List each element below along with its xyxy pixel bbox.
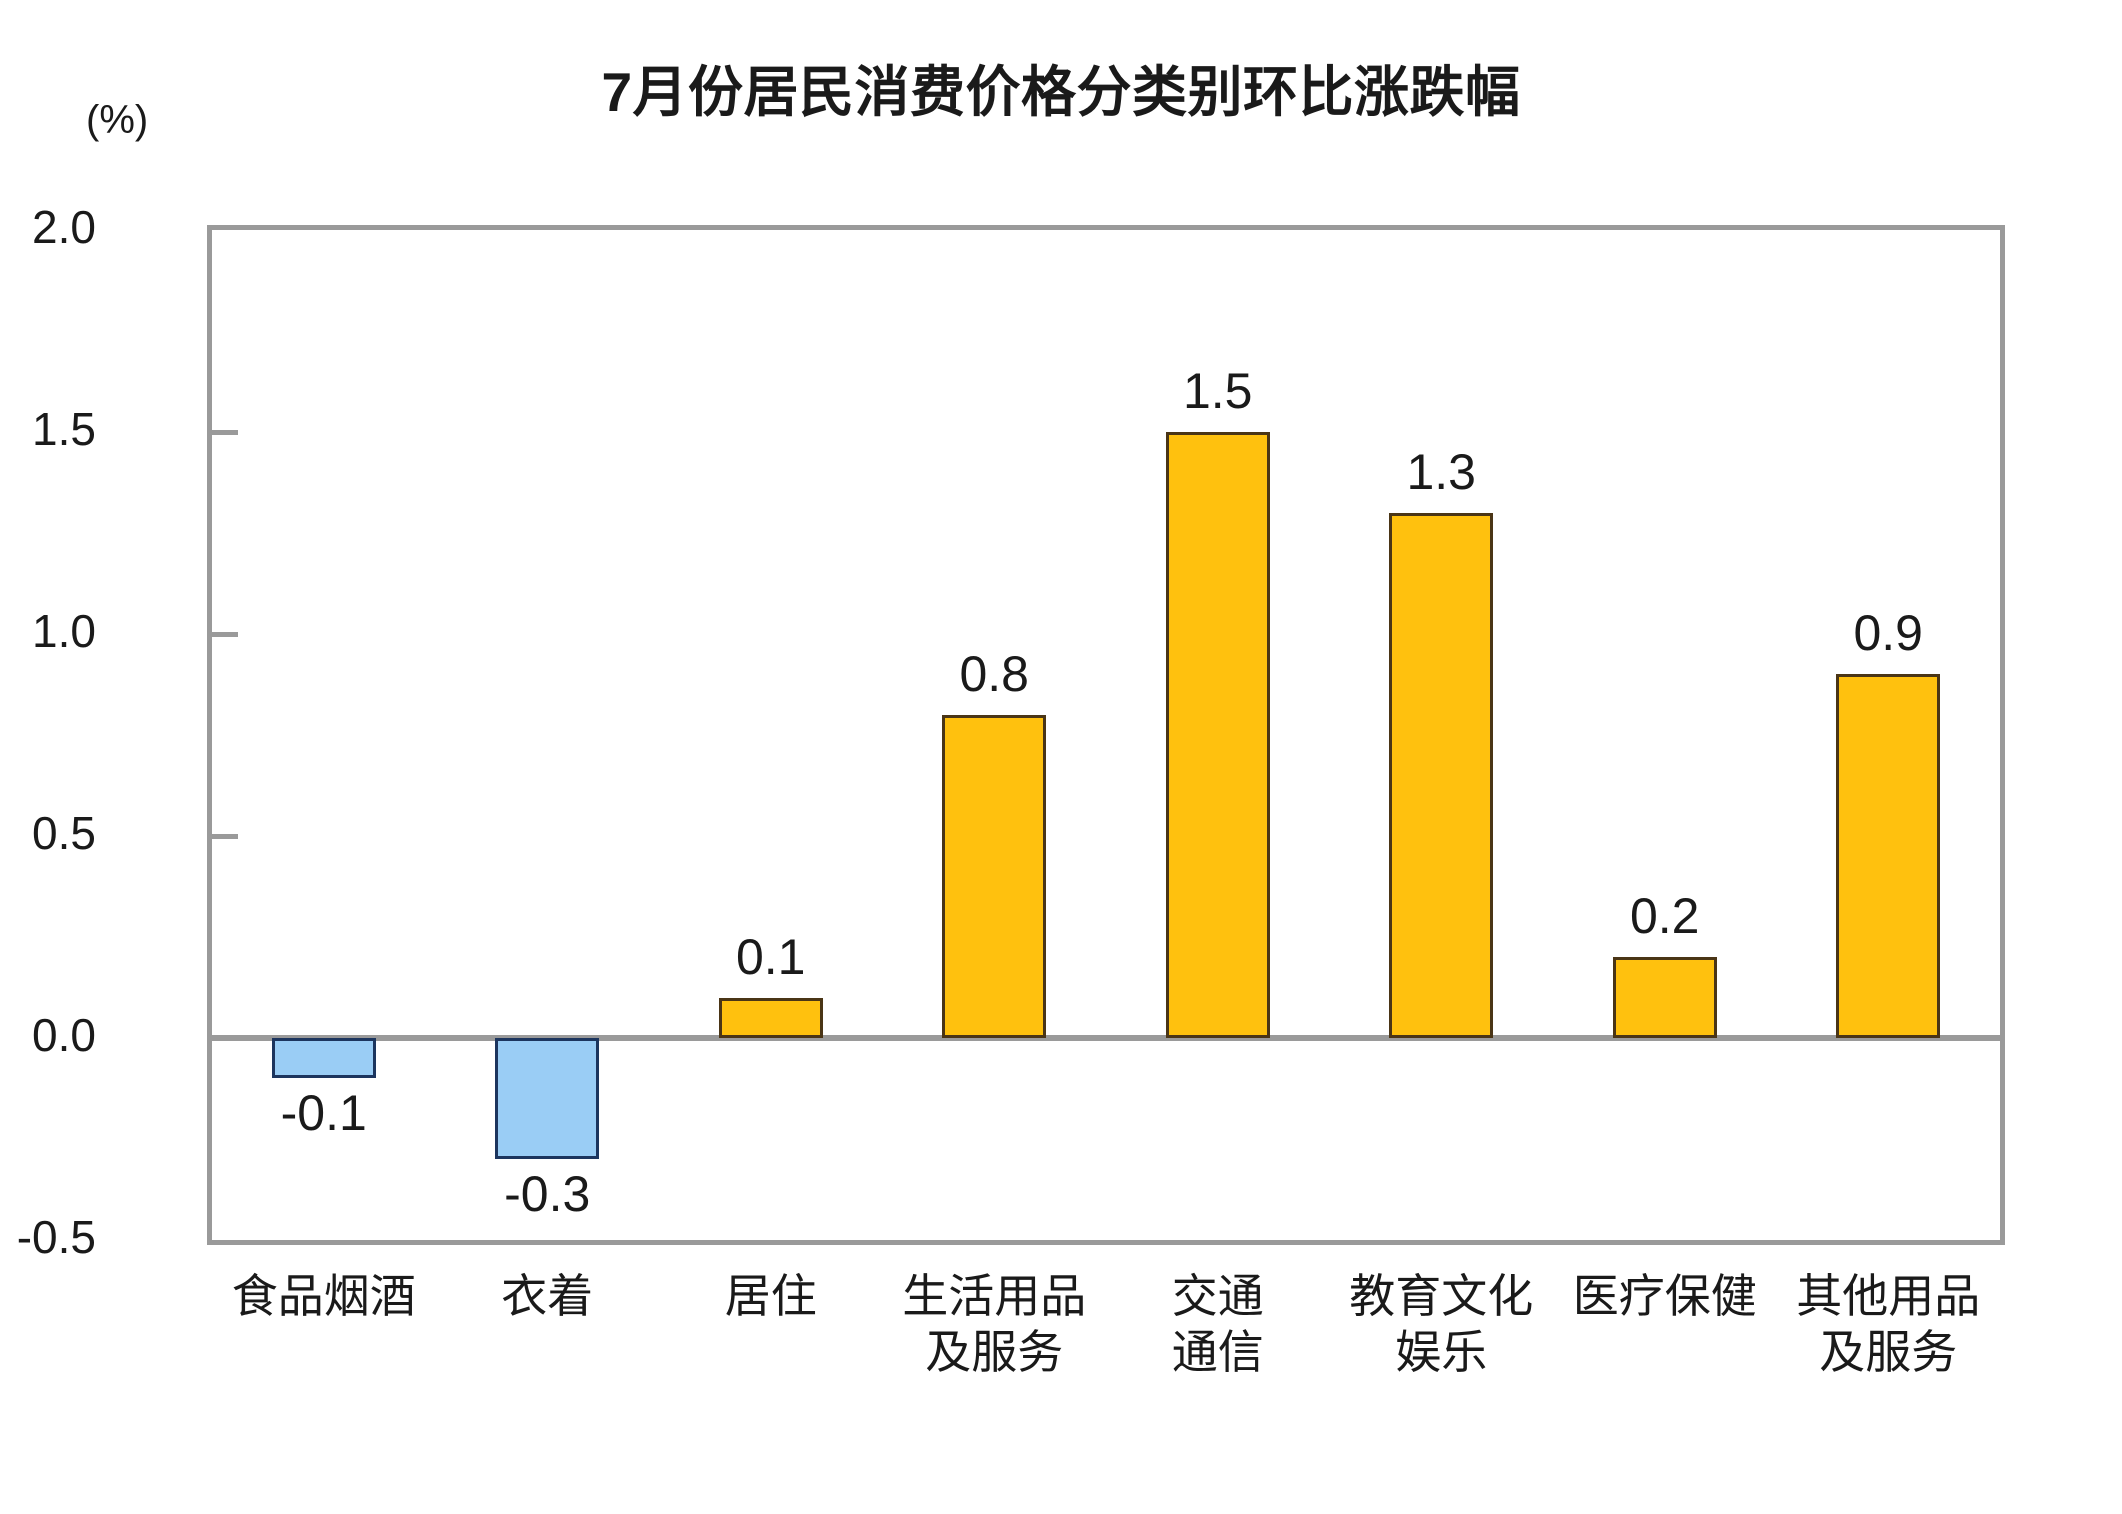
y-axis-tick [212,632,238,637]
category-label-line: 医疗保健 [1535,1268,1795,1324]
x-axis-category-label: 教育文化娱乐 [1311,1268,1571,1380]
x-axis-category-label: 食品烟酒 [194,1268,454,1324]
chart-title: 7月份居民消费价格分类别环比涨跌幅 [0,62,2122,123]
category-label-line: 衣着 [417,1268,677,1324]
bar[interactable] [942,715,1046,1038]
category-label-line: 生活用品 [864,1268,1124,1324]
bar[interactable] [1166,432,1270,1038]
bar[interactable] [495,1038,599,1159]
zero-baseline [212,1035,2000,1041]
bar-value-label: 0.9 [1778,604,1998,662]
y-axis-tick-label: 0.5 [0,806,96,860]
y-axis-tick-label: 0.0 [0,1008,96,1062]
y-axis-tick [212,834,238,839]
bar-value-label: 1.3 [1331,443,1551,501]
category-label-line: 通信 [1088,1324,1348,1380]
bar[interactable] [1389,513,1493,1038]
bar-value-label: 0.1 [661,928,881,986]
bar-value-label: 0.8 [884,645,1104,703]
bar-value-label: -0.1 [214,1084,434,1142]
x-axis-category-label: 衣着 [417,1268,677,1324]
bar-value-label: -0.3 [437,1165,657,1223]
bar[interactable] [272,1038,376,1078]
y-axis-tick-label: 1.5 [0,402,96,456]
chart-container: 7月份居民消费价格分类别环比涨跌幅 (%) 2.01.51.00.50.0-0.… [0,0,2122,1514]
bar[interactable] [1836,674,1940,1038]
bar-value-label: 1.5 [1108,362,1328,420]
category-label-line: 交通 [1088,1268,1348,1324]
x-axis-category-label: 医疗保健 [1535,1268,1795,1324]
bar[interactable] [1613,957,1717,1038]
category-label-line: 及服务 [1758,1324,2018,1380]
y-axis-unit-label: (%) [86,98,148,143]
y-axis-tick-label: 1.0 [0,604,96,658]
category-label-line: 居住 [641,1268,901,1324]
x-axis-category-label: 居住 [641,1268,901,1324]
category-label-line: 娱乐 [1311,1324,1571,1380]
plot-area-inner [212,230,2000,1240]
y-axis-tick [212,430,238,435]
y-axis-tick-label: -0.5 [0,1210,96,1264]
bar[interactable] [719,998,823,1038]
y-axis-tick-label: 2.0 [0,200,96,254]
x-axis-category-label: 交通通信 [1088,1268,1348,1380]
category-label-line: 其他用品 [1758,1268,2018,1324]
category-label-line: 及服务 [864,1324,1124,1380]
category-label-line: 教育文化 [1311,1268,1571,1324]
bar-value-label: 0.2 [1555,887,1775,945]
category-label-line: 食品烟酒 [194,1268,454,1324]
x-axis-category-label: 生活用品及服务 [864,1268,1124,1380]
x-axis-category-label: 其他用品及服务 [1758,1268,2018,1380]
